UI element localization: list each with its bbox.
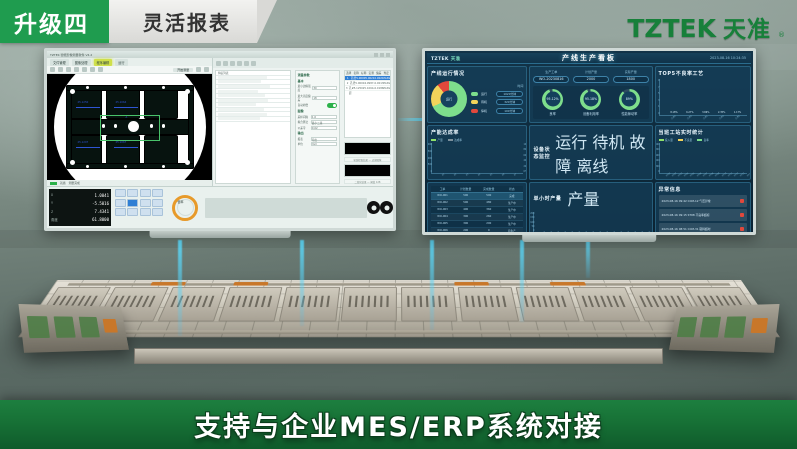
legend-swatch-standby	[471, 100, 478, 104]
kpi-value: WO-20230816	[533, 76, 569, 83]
tick: ST13	[740, 173, 745, 178]
status-led-icon	[50, 182, 57, 185]
wing-panel	[677, 317, 697, 337]
cell: 生产中	[500, 222, 523, 226]
form-row: 拟合算法最小二乘	[298, 120, 337, 124]
axis-value: 1.0041	[95, 193, 109, 198]
field-label: 拟合算法	[298, 120, 308, 124]
annotate-icon[interactable]	[82, 67, 87, 72]
inspection-canvas-pane: 文件管理 图像处理 程序编辑 运行 开始测量	[47, 58, 213, 186]
panel-capacity: 产能达成率 产量 达成率 2,000 1,500 1,000	[427, 125, 527, 180]
form-row: 自动补偿	[298, 103, 337, 108]
inspection-toolbar[interactable]: 开始测量	[47, 66, 212, 74]
gear-icon	[367, 201, 380, 214]
legend-name: 待机	[481, 100, 493, 104]
tab-file-manage[interactable]: 文件管理	[50, 59, 69, 66]
cell: WO-005	[431, 222, 454, 226]
window-controls[interactable]	[374, 53, 390, 57]
table-row[interactable]: WO-003400360生产中	[431, 207, 523, 214]
table-row[interactable]: WO-005300200生产中	[431, 221, 523, 228]
axis-value: 7.4341	[95, 209, 109, 214]
wing-panel	[78, 317, 99, 337]
panel-kpi: 生产工单 WO-20230816 计划产量 2000 实际产量 1800	[529, 66, 652, 123]
dimension-label-2: 25.1064	[116, 101, 127, 104]
cell: 5.0021	[365, 76, 374, 80]
kpi-order: 生产工单 WO-20230816	[533, 70, 569, 83]
cell: 5.0000	[355, 81, 364, 85]
panel-alarms: 异常信息 2023-08-16 09:42 CCM-12 气压异常2023-08…	[655, 182, 751, 232]
form-group-output: 输出	[298, 131, 337, 135]
cell: 完成	[500, 194, 523, 198]
tab-image-process[interactable]: 图像处理	[72, 59, 91, 66]
cell: 500	[454, 201, 477, 205]
field-value[interactable]: 最小二乘	[311, 120, 337, 124]
legend-swatch-down	[471, 109, 478, 113]
cell: 300	[454, 222, 477, 226]
cell: -0.0186	[374, 86, 384, 90]
measure-icon[interactable]	[74, 67, 79, 72]
top5-plot: 975310 8.18% 6.27% 3.86% 2.35% 1.17%	[659, 79, 747, 116]
gauge-yield: 95.12% 良率	[542, 89, 563, 117]
device-status-grid[interactable]: CCM-01CCM-02CCM-03CCM-04CCM-05CCM-06CCM-…	[533, 179, 648, 180]
axis-label: Y	[51, 201, 53, 205]
panel-title: 异常信息	[659, 186, 747, 193]
wing-panel	[699, 317, 720, 337]
beam-to-floor-right	[430, 240, 434, 330]
legend-value: 100分钟	[496, 108, 523, 114]
jog-up-icon[interactable]	[127, 189, 138, 197]
field-value[interactable]: 1.0	[311, 115, 337, 119]
minimize-icon[interactable]	[374, 53, 378, 57]
run-measure-button[interactable]: 开始测量	[173, 68, 193, 72]
factory-module	[157, 287, 225, 321]
line-status-body: 运行 时间 运行 1020分钟	[431, 79, 523, 119]
gauge-ring: 95.18%	[580, 89, 601, 110]
factory-module	[458, 287, 519, 321]
left-monitor: TZTEK 智能影像测量软件 V4.2 文件管理 图像处理 程序编辑 运行	[44, 48, 396, 231]
field-label: 最大亮度偏差	[298, 94, 313, 102]
legend-entry: 离线	[576, 157, 608, 176]
connector-beam-horizontal	[398, 118, 422, 121]
open-program-icon[interactable]	[223, 61, 228, 66]
factory-module	[401, 287, 458, 321]
hourly-plot: 200 150 100 50 0	[533, 212, 648, 232]
legend-entry: 待机	[592, 133, 624, 152]
preview-caption-binary: 二值化结果 — 阈值 128	[344, 179, 391, 184]
y-axis-left: 2,000 1,500 1,000 500 0	[427, 143, 432, 173]
panel-hourly-output: 单小时产量 产量 200 150 100 50	[529, 182, 652, 232]
y-axis-left: 200 150 100 50 0	[529, 212, 534, 232]
topic-title: 灵活报表	[109, 0, 257, 43]
jog-down-icon[interactable]	[127, 208, 138, 216]
dashboard-logo: TZTEK 天准	[431, 56, 461, 62]
field-value[interactable]: 18	[312, 96, 337, 100]
cell: 200	[477, 222, 500, 226]
legend-row: 待机 320分钟	[471, 99, 523, 105]
factory-module	[279, 287, 340, 321]
chart-legend: 产量	[567, 186, 599, 210]
factory-marker	[550, 282, 586, 286]
factory-rail-bottom	[35, 330, 761, 333]
chart-legend: 投入量 不良量 良率	[659, 138, 747, 142]
tab-run[interactable]: 运行	[115, 59, 127, 66]
auto-compensate-toggle[interactable]	[327, 103, 337, 108]
factory-marker	[453, 282, 488, 286]
device-tile[interactable]: CCM-02	[545, 179, 555, 180]
pan-icon[interactable]	[66, 67, 71, 72]
side-toolbar[interactable]	[213, 58, 393, 68]
tab-program-edit[interactable]: 程序编辑	[94, 59, 113, 66]
factory-front-machine	[134, 348, 662, 364]
cell: 4.9987	[364, 81, 373, 85]
aux-controls[interactable]	[205, 187, 393, 228]
alarm-text: 2023-08-16 09:15 ST08 不良率超标	[662, 213, 710, 217]
zoom-icon[interactable]	[58, 67, 63, 72]
roi-box[interactable]	[100, 115, 160, 141]
alarm-list[interactable]: 2023-08-16 09:42 CCM-12 气压异常2023-08-16 0…	[659, 195, 747, 232]
capacity-plot: 2,000 1,500 1,000 500 0 100% 80% 60%	[431, 143, 523, 174]
wing-marker	[102, 319, 117, 332]
feature-list[interactable]: 特征列表	[215, 70, 291, 184]
alarm-item[interactable]: 2023-08-16 09:15 ST08 不良率超标	[659, 209, 747, 221]
production-dashboard: TZTEK 天准 产线生产看板 2023-08-16 10:24:35 产线运行…	[425, 51, 753, 232]
inspected-part-silhouette: 25.1250 25.1064 25.1207 25.1067 A	[66, 85, 194, 169]
dashboard-grid: 产线运行情况 运行 时间 运行 1020分钟	[427, 66, 751, 232]
legend-name: 运行	[481, 92, 493, 96]
col-order: 工单	[431, 187, 454, 191]
gear-secondary-icon	[380, 201, 393, 214]
axis-value: 61.8000	[92, 217, 109, 222]
panel-device-status: 设备状态监控 运行 待机 故障 离线 CCM-01CCM-02CCM-03CCM…	[529, 125, 652, 180]
dashboard-title: 产线生产看板	[562, 53, 616, 63]
beam-to-floor-mid	[300, 240, 304, 326]
table-row[interactable]: WO-0062000待生产	[431, 228, 523, 232]
field-label: 报表	[298, 137, 303, 141]
left-monitor-screen: TZTEK 智能影像测量软件 V4.2 文件管理 图像处理 程序编辑 运行	[47, 51, 393, 228]
gauge-label: 设备利用率	[583, 111, 599, 116]
device-tile[interactable]: CCM-05	[580, 179, 590, 180]
field-label: 采样间隔	[298, 115, 308, 119]
factory-module	[218, 287, 282, 321]
save-icon[interactable]	[196, 67, 201, 72]
gauge-label: 性能稼动率	[621, 111, 637, 116]
right-monitor-screen: TZTEK 天准 产线生产看板 2023-08-16 10:24:35 产线运行…	[425, 51, 753, 232]
stage-badge: 升级四	[0, 0, 109, 43]
device-tile[interactable]: CCM-03	[557, 179, 567, 180]
device-tile[interactable]: CCM-06	[592, 179, 602, 180]
cell: 300	[454, 215, 477, 219]
beam-to-floor-left	[178, 240, 182, 336]
field-label: 公差带	[298, 126, 306, 130]
measure-parameter-form[interactable]: 测量参数 基本 最小边缘强度30 最大亮度偏差18 自动补偿 图像 采样间隔1.…	[295, 70, 340, 184]
inspection-app-title: TZTEK 智能影像测量软件 V4.2	[50, 53, 92, 57]
export-icon[interactable]	[204, 67, 209, 72]
beam-to-floor-far-right	[520, 240, 524, 322]
y-axis-left: 1,500 1,200 900 600 300 0	[655, 143, 660, 173]
jog-left-icon[interactable]	[115, 199, 126, 207]
field-value[interactable]: mm	[311, 142, 337, 146]
cell: 25.1064	[363, 86, 374, 90]
kpi-label: 计划产量	[585, 70, 597, 74]
field-label: 最小边缘强度	[298, 84, 313, 92]
header-ribbon: 升级四 灵活报表	[0, 0, 257, 43]
axis-label: Z	[51, 210, 53, 214]
jog-up-left-icon[interactable]	[115, 189, 126, 197]
device-tile[interactable]: CCM-09	[627, 179, 637, 180]
kpi-plan: 计划产量 2000	[573, 70, 609, 83]
status-message: 测量完成	[69, 181, 80, 185]
legend-row: 停机 100分钟	[471, 108, 523, 114]
tick: ST09	[715, 173, 720, 178]
legend-entry: 不良量	[678, 138, 692, 142]
legend-header: 时间	[471, 84, 523, 88]
legend-entry: 产量	[567, 190, 599, 209]
order-table-body[interactable]: WO-001500500完成WO-002500480生产中WO-00340036…	[431, 193, 523, 232]
cell: -0.0013	[374, 81, 384, 85]
device-legend: 运行 待机 故障 离线	[555, 129, 648, 177]
save-program-icon[interactable]	[230, 61, 235, 66]
grid-icon[interactable]	[90, 67, 95, 72]
form-row: 报表导出	[298, 137, 337, 141]
dimension-label-1: 25.1250	[78, 101, 89, 104]
jog-stop-icon[interactable]	[152, 199, 163, 207]
dashboard-row-2: 产能达成率 产量 达成率 2,000 1,500 1,000	[427, 125, 751, 180]
dimension-label-4: 25.1067	[116, 141, 127, 144]
dimension-label-3: 25.1207	[78, 141, 89, 144]
legend-value: 1020分钟	[496, 91, 523, 97]
dashboard-row-3: 工单 计划数量 完成数量 状态 WO-001500500完成WO-0025004…	[427, 182, 751, 232]
light-slider[interactable]	[205, 198, 367, 218]
gauge-performance: 89% 性能稼动率	[619, 89, 640, 117]
x-axis-labels: 工序A 工序B 工序C 工序D 工序E	[659, 116, 747, 119]
status-ready-text: 就绪	[60, 181, 66, 185]
kpi-actual: 实际产量 1800	[613, 70, 649, 83]
alarm-item[interactable]: 2023-08-16 08:51 CCM-31 取料超时	[659, 223, 747, 232]
inspection-titlebar: TZTEK 智能影像测量软件 V4.2	[47, 51, 393, 58]
cell: 25.1250	[352, 86, 363, 90]
delete-icon[interactable]	[237, 61, 242, 66]
jog-down-left-icon[interactable]	[115, 208, 126, 216]
dashboard-logo-latin: TZTEK	[431, 57, 449, 62]
field-value[interactable]: 0.02	[311, 126, 337, 130]
cell: 5.0000	[356, 76, 365, 80]
device-tile[interactable]: CCM-01	[533, 179, 543, 180]
alarm-level-icon	[740, 199, 744, 203]
inspection-software: TZTEK 智能影像测量软件 V4.2 文件管理 图像处理 程序编辑 运行	[47, 51, 393, 228]
cell: WO-003	[431, 208, 454, 212]
up-icon[interactable]	[244, 61, 249, 66]
cell: 400	[454, 208, 477, 212]
jog-home-icon[interactable]	[152, 189, 163, 197]
cell: WO-004	[431, 215, 454, 219]
panel-top5-defect: TOP5不良率工艺 975310 8.18% 6.27% 3.86% 2.35%	[655, 66, 751, 123]
gauge-label: 良率	[549, 111, 555, 116]
light-icon[interactable]	[98, 67, 103, 72]
tick: ST05	[690, 173, 695, 178]
preview-caption-edge: 轮廓提取结果 — 边缘图像	[344, 157, 391, 162]
brand-chinese: 天准	[723, 10, 771, 44]
inspection-image-canvas[interactable]: 25.1250 25.1064 25.1207 25.1067 A	[47, 74, 212, 180]
legend-entry: 产量	[431, 138, 443, 142]
line-status-legend: 时间 运行 1020分钟 待机 320分钟	[471, 84, 523, 114]
order-table[interactable]: 工单 计划数量 完成数量 状态 WO-001500500完成WO-0025004…	[431, 186, 523, 232]
field-label: 自动补偿	[298, 103, 308, 107]
legend-value: 320分钟	[496, 99, 523, 105]
panel-title: 产能达成率	[431, 129, 523, 136]
chart-legend: 产量 达成率	[431, 138, 523, 142]
jog-keypad[interactable]	[115, 189, 163, 226]
device-tile[interactable]: CCM-04	[568, 179, 578, 180]
cell: 待生产	[500, 229, 523, 232]
panel-title: 当班工站实时统计	[659, 129, 747, 136]
jog-speed-icon[interactable]	[152, 208, 163, 216]
alarm-text: 2023-08-16 08:51 CCM-31 取料超时	[662, 227, 711, 231]
side-middle: 特征列表 测量参数	[213, 68, 393, 186]
table-header: 工单 计划数量 完成数量 状态	[431, 186, 523, 193]
gauge-value: 89%	[626, 97, 633, 101]
right-monitor-stand	[522, 235, 656, 242]
panel-title: 产线运行情况	[431, 70, 523, 77]
magnification-dial[interactable]: 倍率	[165, 187, 205, 228]
factory-floor-3d	[10, 252, 787, 402]
form-row: 采样间隔1.0	[298, 115, 337, 119]
x-axis-labels: ST01ST02ST03ST04ST05ST06ST07ST08ST09ST10…	[659, 174, 747, 176]
y-axis-labels: 975310	[655, 79, 660, 115]
kpi-label: 实际产量	[625, 70, 637, 74]
legend-entry: 达成率	[448, 138, 462, 142]
inspection-tabbar[interactable]: 文件管理 图像处理 程序编辑 运行	[47, 58, 212, 66]
machine-control-panel: X1.0041 Y-5.5016 Z7.4341 角度61.8000	[47, 186, 393, 228]
alarm-level-icon	[740, 227, 744, 231]
station-chart: 投入量 不良量 良率 1,500 1,200 900 600	[659, 138, 747, 176]
tick: ST14	[747, 173, 751, 178]
cell: 生产中	[500, 215, 523, 219]
col-done: 完成数量	[477, 187, 500, 191]
coord-row: Y-5.5016	[51, 201, 109, 206]
caption-text: 支持与企业MES/ERP系统对接	[194, 405, 603, 444]
panel-title: 设备状态监控	[533, 146, 555, 160]
field-value[interactable]: 导出	[311, 137, 337, 141]
jog-center-icon[interactable]	[127, 199, 138, 207]
measure-result-table[interactable]: 选择 名称 标称值 实测值 偏差 判定 1 孔径1	[344, 70, 391, 138]
top5-chart: 975310 8.18% 6.27% 3.86% 2.35% 1.17% 工序A	[659, 79, 747, 119]
dial-ring[interactable]: 倍率	[172, 195, 198, 221]
cell: 生产中	[500, 208, 523, 212]
form-row: 最大亮度偏差18	[298, 94, 337, 102]
panel-order-table: 工单 计划数量 完成数量 状态 WO-001500500完成WO-0025004…	[427, 182, 527, 232]
legend-name: 停机	[481, 109, 493, 113]
list-item[interactable]	[216, 117, 290, 122]
coord-row: 角度61.8000	[51, 217, 109, 222]
brand-logo: TZTEK 天准 ®	[627, 10, 785, 44]
factory-left-wing	[18, 304, 128, 353]
legend-swatch-run	[471, 92, 478, 96]
registered-mark-icon: ®	[778, 31, 785, 39]
factory-marker	[233, 282, 269, 286]
hourly-chart: 200 150 100 50 0 08:0009:0010:0011:0012:…	[533, 212, 648, 232]
gauge-ring: 89%	[619, 89, 640, 110]
field-label: 单位	[298, 142, 303, 146]
donut-center-label: 运行	[446, 97, 452, 102]
station-plot: 1,500 1,200 900 600 300 0	[659, 143, 747, 174]
table-row[interactable]: WO-001500500完成	[431, 193, 523, 200]
new-program-icon[interactable]	[216, 61, 221, 66]
select-icon[interactable]	[50, 67, 55, 72]
down-icon[interactable]	[251, 61, 256, 66]
bottom-caption-bar: 支持与企业MES/ERP系统对接	[0, 400, 797, 449]
device-tile[interactable]: CCM-10	[638, 179, 648, 180]
factory-module	[572, 287, 640, 321]
preview-pane: 轮廓提取结果 — 边缘图像 二值化结果 — 阈值 128	[344, 142, 391, 184]
wing-panel	[53, 316, 75, 337]
result-pane: 选择 名称 标称值 实测值 偏差 判定 1 孔径1	[342, 68, 393, 186]
legend-row: 运行 1020分钟	[471, 91, 523, 97]
form-group-image: 图像	[298, 109, 337, 113]
field-value[interactable]: 30	[312, 86, 337, 90]
cell: 0.0021	[374, 76, 383, 80]
jog-settings-icon[interactable]	[140, 189, 151, 197]
preview-image-edge	[344, 142, 391, 155]
table-row[interactable]: WO-004300260生产中	[431, 214, 523, 221]
inspection-body: 文件管理 图像处理 程序编辑 运行 开始测量	[47, 58, 393, 186]
brand-latin: TZTEK	[627, 14, 716, 43]
x-axis-labels: 01 02 03 04 05 06 07	[431, 174, 523, 176]
capacity-chart: 产量 达成率 2,000 1,500 1,000 500 0	[431, 138, 523, 176]
jog-down-right-icon[interactable]	[140, 208, 151, 216]
maximize-icon[interactable]	[380, 53, 384, 57]
gauge-ring: 95.12%	[542, 89, 563, 110]
device-tile[interactable]: CCM-08	[615, 179, 625, 180]
y-axis-right: 100% 80% 60% 40% 20% 0%	[523, 143, 527, 173]
kpi-label: 生产工单	[545, 70, 557, 74]
device-tile[interactable]: CCM-07	[603, 179, 613, 180]
panel-title: TOP5不良率工艺	[659, 70, 747, 77]
cell: PASS	[384, 86, 390, 90]
wing-panel	[27, 316, 50, 338]
jog-right-icon[interactable]	[140, 199, 151, 207]
kpi-value: 2000	[573, 76, 609, 83]
wing-marker	[750, 318, 768, 332]
cell: WO-002	[431, 201, 454, 205]
form-row: 公差带0.02	[298, 126, 337, 130]
gauge-value: 95.12%	[547, 97, 559, 101]
panel-title: 单小时产量	[533, 195, 561, 202]
table-row[interactable]: WO-002500480生产中	[431, 200, 523, 207]
alarm-item[interactable]: 2023-08-16 09:42 CCM-12 气压异常	[659, 195, 747, 207]
cell: PASS	[384, 81, 390, 85]
gauge-utilization: 95.18% 设备利用率	[580, 89, 601, 117]
form-group-basic: 基本	[298, 79, 337, 83]
cell: WO-001	[431, 194, 454, 198]
factory-module-row	[29, 287, 769, 321]
alarm-level-icon	[740, 213, 744, 217]
factory-module	[340, 287, 397, 321]
left-monitor-stand	[150, 231, 291, 238]
beam-dashboard-down	[586, 238, 590, 278]
cell: 500	[454, 194, 477, 198]
factory-module	[515, 287, 579, 321]
panel-line-status: 产线运行情况 运行 时间 运行 1020分钟	[427, 66, 527, 123]
coord-row: Z7.4341	[51, 209, 109, 214]
coord-row: X1.0041	[51, 193, 109, 198]
close-icon[interactable]	[386, 53, 390, 57]
dashboard-clock: 2023-08-16 10:24:35	[710, 56, 746, 60]
dashboard-row-1: 产线运行情况 运行 时间 运行 1020分钟	[427, 66, 751, 123]
form-row: 单位mm	[298, 142, 337, 146]
panel-station-stats: 当班工站实时统计 投入量 不良量 良率 1,500 1,200	[655, 125, 751, 180]
axis-label: 角度	[51, 217, 58, 222]
wing-panel	[724, 316, 746, 337]
